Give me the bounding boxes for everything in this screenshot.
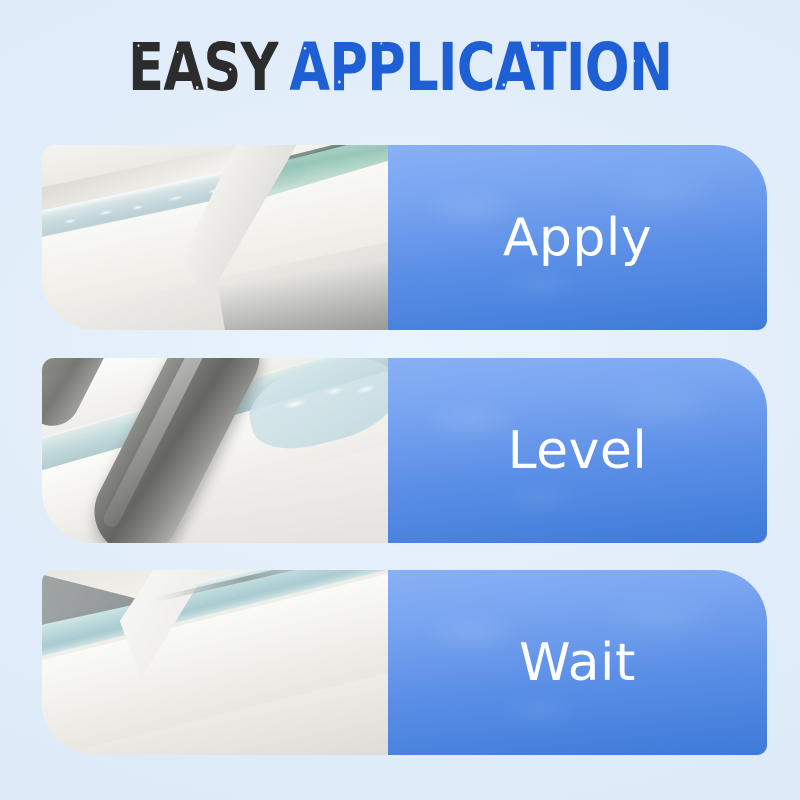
step-photo-level <box>42 358 388 543</box>
step-panel-wait: Wait <box>388 570 767 755</box>
step-card-wait[interactable]: Wait <box>42 570 767 755</box>
step-card-apply[interactable]: Apply <box>42 145 767 330</box>
step-photo-wait <box>42 570 388 755</box>
title-text: EASYAPPLICATION <box>128 33 672 103</box>
page-title: EASYAPPLICATION <box>0 33 800 103</box>
step-panel-apply: Apply <box>388 145 767 330</box>
step-label-wait: Wait <box>519 637 636 689</box>
step-panel-level: Level <box>388 358 767 543</box>
title-word-easy: EASY <box>128 33 278 103</box>
step-label-level: Level <box>508 425 648 477</box>
step-label-apply: Apply <box>503 212 652 264</box>
step-card-level[interactable]: Level <box>42 358 767 543</box>
title-word-application: APPLICATION <box>289 33 672 103</box>
step-photo-apply <box>42 145 388 330</box>
easy-application-poster: EASYAPPLICATION Apply <box>0 0 800 800</box>
